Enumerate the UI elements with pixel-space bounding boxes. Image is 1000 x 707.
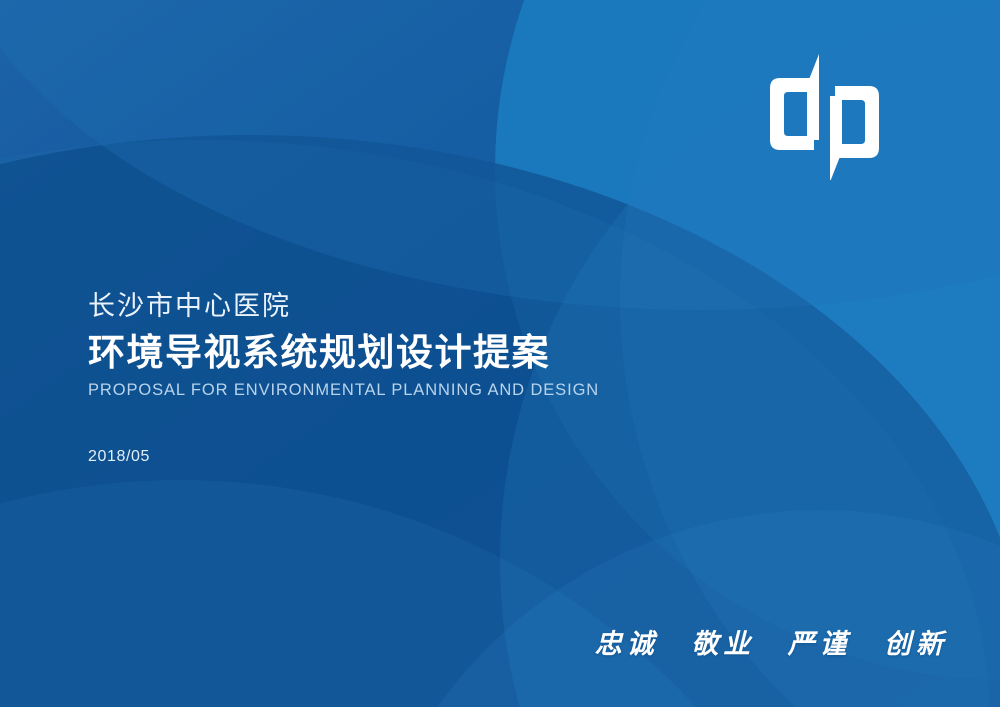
page-title: 环境导视系统规划设计提案	[88, 330, 728, 376]
logo-right-stem-icon	[830, 96, 842, 158]
slogan-word-3: 严谨	[788, 629, 852, 660]
slogan: 忠诚 敬业 严谨 创新	[595, 622, 948, 661]
title-block: 长沙市中心医院 环境导视系统规划设计提案 PROPOSAL FOR ENVIRO…	[88, 290, 728, 468]
subtitle-english: PROPOSAL FOR ENVIRONMENTAL PLANNING AND …	[88, 379, 728, 401]
slogan-word-2: 敬业	[691, 629, 755, 660]
slogan-word-4: 创新	[884, 629, 948, 660]
logo-mark-icon	[762, 52, 894, 180]
logo-left-stem-icon	[807, 78, 819, 140]
date-label: 2018/05	[88, 447, 728, 468]
presentation-cover-slide: 长沙市中心医院 环境导视系统规划设计提案 PROPOSAL FOR ENVIRO…	[0, 0, 1000, 707]
slogan-word-1: 忠诚	[595, 629, 659, 660]
organization-name: 长沙市中心医院	[88, 290, 728, 324]
logo-left-tail-icon	[808, 54, 819, 82]
logo	[762, 52, 894, 180]
logo-right-tail-icon	[830, 154, 841, 180]
